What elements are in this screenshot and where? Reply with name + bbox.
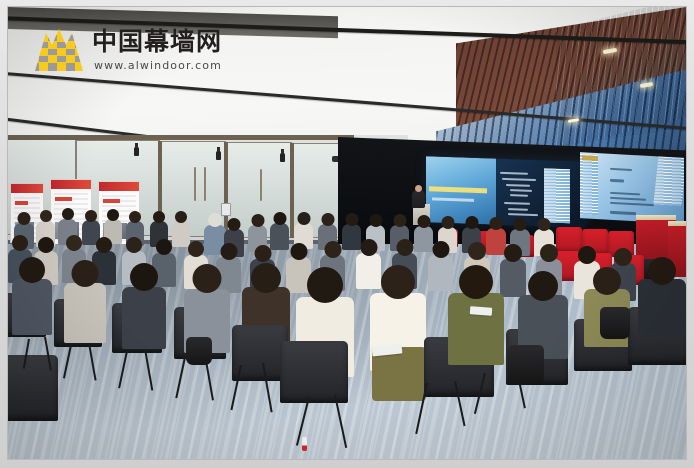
water-bottle (302, 437, 307, 451)
audience-head (441, 216, 454, 229)
right-slide-badge (582, 155, 598, 161)
audience-head (130, 263, 158, 291)
slide-building-render (544, 168, 570, 223)
audience-head (540, 244, 558, 262)
backpack-1 (508, 345, 544, 385)
audience-head (393, 214, 406, 227)
handout (470, 306, 493, 316)
audience-head (228, 218, 241, 231)
door-handle-right[interactable] (204, 167, 206, 201)
door-handle-left[interactable] (194, 167, 196, 201)
chair-back (280, 341, 348, 403)
slide-line-1 (500, 172, 528, 175)
audience-head (153, 211, 165, 223)
audience-head (321, 213, 334, 226)
poster-left-header (11, 184, 43, 193)
audience-head (297, 212, 310, 225)
right-slide-line-4 (610, 197, 646, 201)
door-handle-far[interactable] (260, 169, 262, 201)
watermark: 中国幕墙网 www.alwindoor.com (30, 23, 230, 77)
audience-person (270, 223, 289, 250)
watermark-brand: 中国幕墙网 (92, 27, 222, 57)
audience-head (459, 265, 493, 299)
photo-frame: 中国幕墙网 www.alwindoor.com (0, 0, 694, 468)
audience-head (504, 244, 522, 262)
presenter (412, 190, 425, 208)
conference-photo: 中国幕墙网 www.alwindoor.com (8, 7, 686, 459)
slide-line-7 (508, 208, 528, 211)
audience-person (428, 255, 453, 291)
audience-person (486, 228, 506, 255)
audience-head (345, 213, 358, 226)
audience-person-front (638, 279, 686, 335)
audience-head (129, 211, 141, 223)
track-spotlight-3 (280, 153, 285, 162)
audience-head (251, 214, 264, 227)
poster-center-header (51, 180, 91, 189)
audience-head (188, 241, 204, 257)
audience-person-front (122, 287, 166, 349)
poster-right-accent (103, 199, 120, 203)
door-header (8, 135, 354, 140)
audience-head (432, 241, 449, 258)
audience-head (538, 218, 551, 231)
raised-phone (221, 203, 231, 216)
audience-head (273, 212, 286, 225)
audience-head (369, 214, 382, 227)
poster-left-accent (15, 201, 28, 205)
audience-head (12, 235, 28, 251)
right-projection-screen (580, 152, 684, 224)
audience-head (107, 209, 119, 221)
vip-chair-1 (556, 227, 582, 253)
slide-line-3 (506, 184, 530, 187)
audience-person (500, 259, 526, 297)
audience-head (648, 257, 676, 285)
audience-person (414, 226, 433, 252)
audience-head (40, 210, 52, 222)
audience-head (307, 267, 343, 303)
poster-right-header (99, 182, 139, 191)
audience-head (19, 257, 45, 283)
audience-head (156, 239, 172, 255)
slide-line-4 (510, 189, 532, 192)
audience-person (172, 221, 190, 247)
audience-person (356, 253, 381, 289)
audience-head (175, 211, 187, 223)
audience-head (396, 239, 413, 256)
audience-head (514, 218, 527, 231)
audience-head (126, 237, 142, 253)
track-spotlight-2 (216, 151, 221, 160)
right-slide-line-1 (610, 168, 632, 171)
audience-head (208, 213, 222, 227)
watermark-url: www.alwindoor.com (94, 59, 222, 72)
audience-head (38, 237, 54, 253)
right-slide-line-3 (610, 192, 640, 196)
door-mullion-3 (290, 143, 294, 238)
audience-head (18, 212, 31, 225)
audience-head (290, 243, 307, 260)
track-spotlight-1 (134, 147, 139, 156)
mountain-checker-logo-icon (30, 25, 88, 73)
audience-head (324, 241, 341, 258)
audience-head (468, 242, 486, 260)
slide-line-8 (508, 213, 538, 216)
right-slide-building-2 (653, 156, 684, 205)
slide-line-6 (504, 202, 530, 205)
audience-head (465, 216, 478, 229)
right-slide-line-5 (610, 202, 654, 206)
audience-head (578, 246, 596, 264)
audience-head (96, 237, 112, 253)
audience-person-front (64, 283, 106, 343)
slide-line-5 (510, 194, 528, 197)
audience-head (360, 239, 377, 256)
slide-line-2 (502, 178, 536, 181)
audience-head (62, 208, 74, 220)
audience-person-front (448, 293, 504, 365)
poster-center-accent (55, 197, 72, 201)
audience-head (254, 245, 271, 262)
backpack-2 (186, 337, 212, 365)
audience-head (66, 235, 82, 251)
audience-head (85, 210, 97, 222)
audience-head (490, 217, 503, 230)
audience-person-front (12, 279, 52, 335)
backpack-3 (600, 307, 630, 339)
right-slide-line-2 (610, 179, 624, 183)
audience-head (593, 267, 621, 295)
audience-head (220, 243, 237, 260)
audience-head (193, 264, 222, 293)
right-slide-line-6 (610, 211, 636, 215)
audience-head (381, 265, 415, 299)
audience-head (614, 248, 632, 266)
audience-head (72, 260, 99, 287)
audience-head (251, 263, 281, 293)
right-slide-building (580, 154, 598, 215)
audience-head (528, 271, 558, 301)
audience-head (417, 215, 430, 228)
audience-person (342, 224, 361, 250)
